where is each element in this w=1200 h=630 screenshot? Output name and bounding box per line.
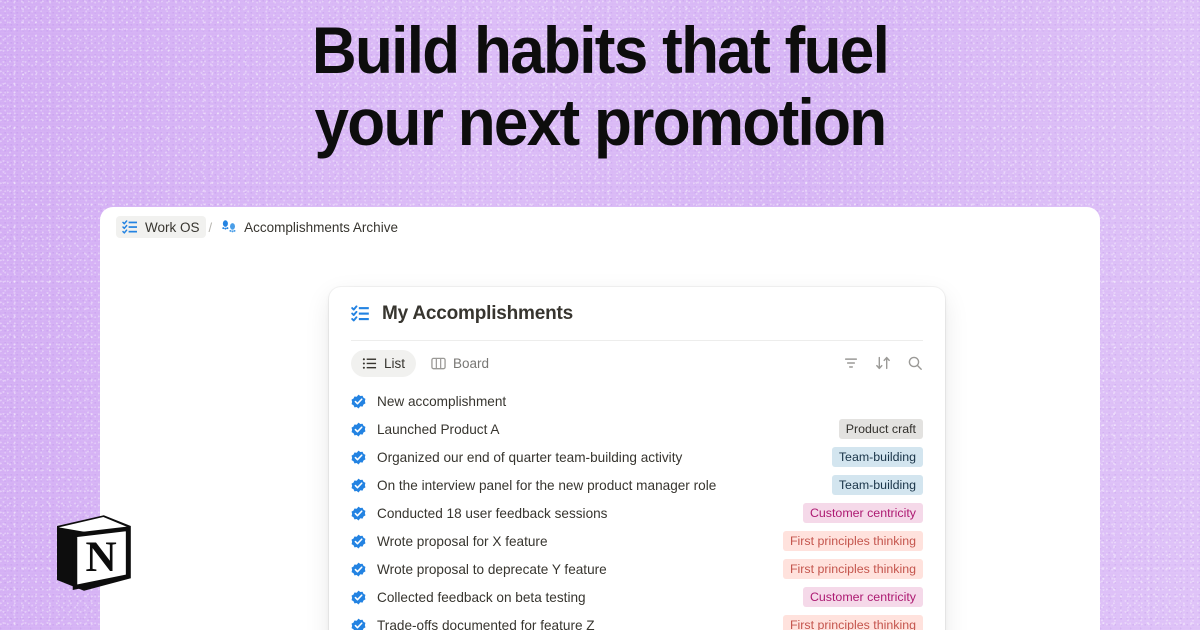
page-title: My Accomplishments (382, 303, 573, 325)
tab-list[interactable]: List (351, 350, 416, 377)
svg-text:N: N (85, 534, 116, 581)
accomplishments-list: New accomplishment Launched Product A Pr… (351, 385, 923, 630)
list-item-tag[interactable]: First principles thinking (783, 615, 923, 630)
breadcrumb-separator: / (206, 220, 216, 235)
list-item-tag[interactable]: Product craft (839, 419, 923, 439)
list-item-tag[interactable]: Team-building (832, 447, 923, 467)
list-item-title: Trade-offs documented for feature Z (377, 618, 595, 630)
search-icon[interactable] (907, 355, 923, 371)
view-tools (843, 355, 923, 371)
verified-check-icon (351, 562, 366, 577)
list-item-tag[interactable]: Customer centricity (803, 587, 923, 607)
verified-check-icon (351, 478, 366, 493)
breadcrumb-label: Work OS (145, 220, 200, 235)
verified-check-icon (351, 534, 366, 549)
accomplishments-card: My Accomplishments List (329, 287, 945, 630)
list-item-tag[interactable]: Team-building (832, 475, 923, 495)
verified-check-icon (351, 506, 366, 521)
breadcrumb: Work OS / Accomplishments Archive (100, 207, 1100, 247)
tab-label: Board (453, 356, 489, 371)
headline-line-2: your next promotion (36, 86, 1164, 158)
list-item-title: Collected feedback on beta testing (377, 590, 586, 605)
list-item-5[interactable]: Wrote proposal for X feature First princ… (351, 527, 923, 555)
tab-label: List (384, 356, 405, 371)
list-item-tag[interactable]: First principles thinking (783, 559, 923, 579)
list-item-8[interactable]: Trade-offs documented for feature Z Firs… (351, 611, 923, 630)
checklist-icon (122, 219, 138, 235)
list-icon (362, 356, 377, 371)
verified-check-icon (351, 422, 366, 437)
list-item-0[interactable]: New accomplishment (351, 387, 923, 415)
verified-check-icon (351, 618, 366, 630)
breadcrumb-item-accomplishments-archive[interactable]: Accomplishments Archive (215, 216, 404, 238)
list-item-title: Wrote proposal for X feature (377, 534, 548, 549)
breadcrumb-label: Accomplishments Archive (244, 220, 398, 235)
sort-icon[interactable] (875, 355, 891, 371)
verified-check-icon (351, 450, 366, 465)
card-header: My Accomplishments (351, 287, 923, 341)
list-item-7[interactable]: Collected feedback on beta testing Custo… (351, 583, 923, 611)
checklist-icon (351, 304, 370, 323)
list-item-6[interactable]: Wrote proposal to deprecate Y feature Fi… (351, 555, 923, 583)
breadcrumb-item-work-os[interactable]: Work OS (116, 216, 206, 238)
app-window: Work OS / Accomplishments Archive (100, 207, 1100, 630)
list-item-title: Conducted 18 user feedback sessions (377, 506, 607, 521)
verified-check-icon (351, 590, 366, 605)
list-item-2[interactable]: Organized our end of quarter team-buildi… (351, 443, 923, 471)
verified-check-icon (351, 394, 366, 409)
view-tabs: List Board (351, 350, 500, 377)
list-item-title: Organized our end of quarter team-buildi… (377, 450, 682, 465)
list-item-3[interactable]: On the interview panel for the new produ… (351, 471, 923, 499)
list-item-title: New accomplishment (377, 394, 506, 409)
list-item-4[interactable]: Conducted 18 user feedback sessions Cust… (351, 499, 923, 527)
list-item-1[interactable]: Launched Product A Product craft (351, 415, 923, 443)
list-item-tag[interactable]: First principles thinking (783, 531, 923, 551)
page-headline: Build habits that fuel your next promoti… (0, 14, 1200, 158)
filter-icon[interactable] (843, 355, 859, 371)
headline-line-1: Build habits that fuel (36, 14, 1164, 86)
list-item-title: Wrote proposal to deprecate Y feature (377, 562, 607, 577)
list-item-title: Launched Product A (377, 422, 499, 437)
board-icon (431, 356, 446, 371)
footprints-icon (221, 219, 237, 235)
list-item-title: On the interview panel for the new produ… (377, 478, 716, 493)
view-tabbar: List Board (351, 341, 923, 385)
list-item-tag[interactable]: Customer centricity (803, 503, 923, 523)
tab-board[interactable]: Board (420, 350, 500, 377)
notion-logo: N (48, 508, 138, 598)
